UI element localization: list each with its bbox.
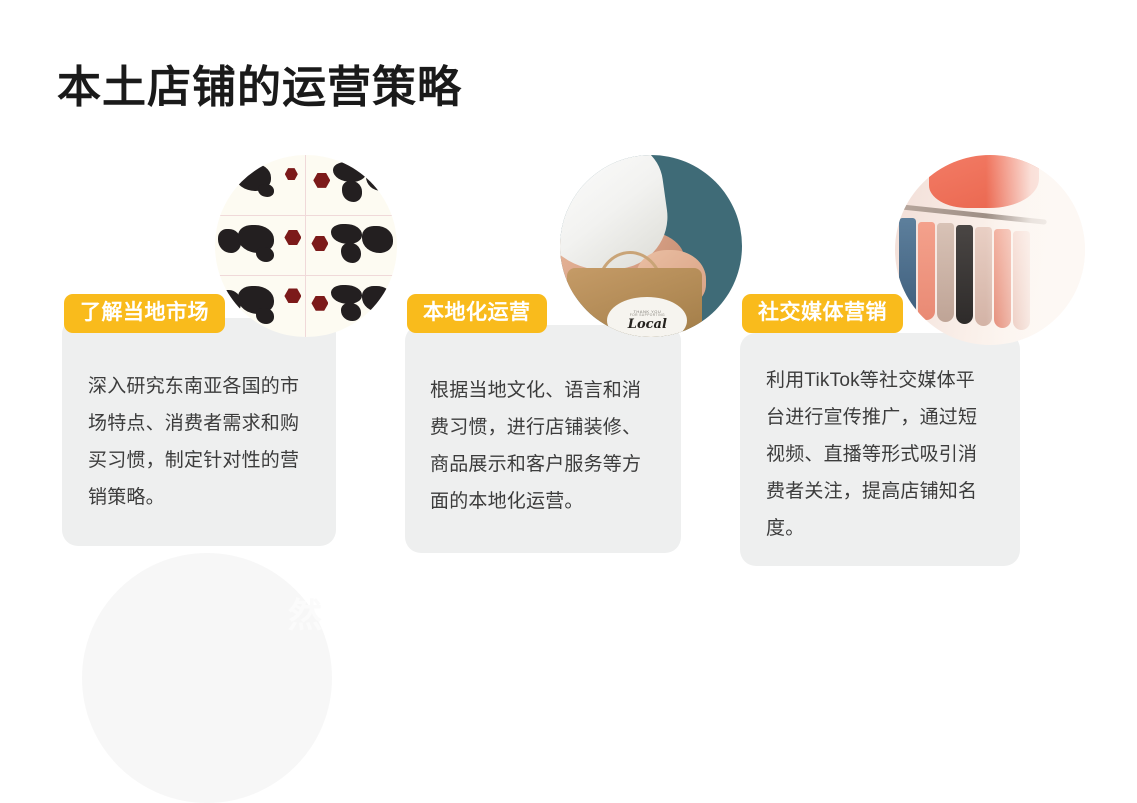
hex-marker-icon [313, 173, 330, 188]
photo-fade-overlay [986, 155, 1085, 345]
card-body-localized-operations: 根据当地文化、语言和消费习惯，进行店铺装修、商品展示和客户服务等方面的本地化运营… [430, 372, 658, 520]
local-sticker: THANK YOU FOR SUPPORTING Local [607, 297, 687, 337]
card-body-understand-local-market: 深入研究东南亚各国的市场特点、消费者需求和购买习惯，制定针对性的营销策略。 [88, 368, 314, 516]
map-cell [215, 276, 306, 337]
map-cell [215, 155, 306, 216]
hex-marker-icon [284, 230, 301, 245]
map-cell [215, 216, 306, 277]
garment-shape [956, 225, 973, 324]
hex-marker-icon [285, 168, 298, 180]
badge-understand-local-market[interactable]: 了解当地市场 [64, 294, 225, 333]
clothing-rack-photo [895, 155, 1085, 345]
sticker-line-3: Local [628, 318, 667, 332]
map-cell [306, 216, 397, 277]
map-cell [306, 276, 397, 337]
badge-localized-operations[interactable]: 本地化运营 [407, 294, 547, 333]
world-map-grid-photo [215, 155, 397, 337]
badge-social-media-marketing[interactable]: 社交媒体营销 [742, 294, 903, 333]
garment-shape [918, 222, 935, 321]
watermark-text: 然 [288, 588, 322, 637]
hex-marker-icon [311, 296, 328, 311]
map-grid [215, 155, 397, 337]
map-cell [306, 155, 397, 216]
hex-marker-icon [284, 288, 301, 303]
local-shopping-bag-photo: THANK YOU FOR SUPPORTING Local [560, 155, 742, 337]
page-title: 本土店铺的运营策略 [57, 62, 462, 115]
garment-shape [937, 223, 954, 322]
hex-marker-icon [311, 236, 328, 251]
card-body-social-media-marketing: 利用TikTok等社交媒体平台进行宣传推广，通过短视频、直播等形式吸引消费者关注… [766, 362, 994, 547]
